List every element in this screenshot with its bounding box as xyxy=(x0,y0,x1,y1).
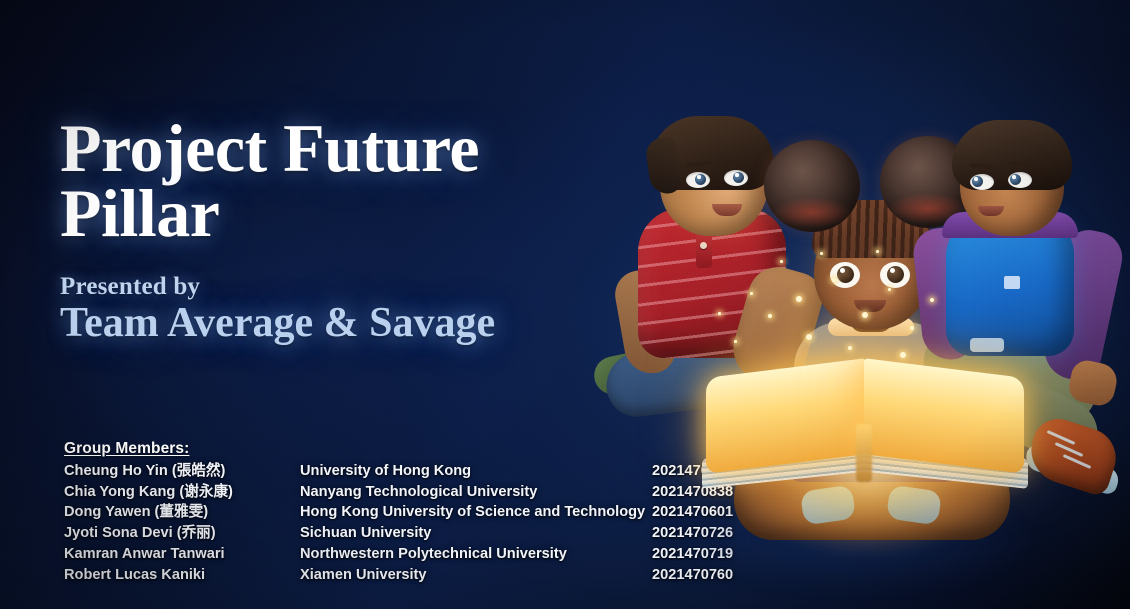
sparkle xyxy=(888,288,891,291)
title-text-block: Project Future Pillar Presented by Team … xyxy=(60,116,660,345)
sparkle xyxy=(796,296,802,302)
sparkle xyxy=(768,314,772,318)
sparkle xyxy=(848,346,852,350)
sparkle xyxy=(862,312,868,318)
presented-by-label: Presented by xyxy=(60,273,660,301)
children-reading-illustration xyxy=(600,100,1130,609)
book-page-right xyxy=(864,358,1024,474)
sparkle xyxy=(780,260,783,263)
page-title-line-2: Pillar xyxy=(60,181,660,246)
page-title-line-1: Project Future xyxy=(60,116,660,181)
shirt-button xyxy=(700,242,707,249)
book-spine xyxy=(856,424,872,482)
member-name: Cheung Ho Yin (張皓然) xyxy=(64,461,300,482)
afro-puff-left xyxy=(764,140,860,232)
pupil xyxy=(972,176,983,187)
pupil xyxy=(887,266,904,283)
sparkle xyxy=(718,312,721,315)
member-name: Dong Yawen (董雅雯) xyxy=(64,502,300,523)
sparkle xyxy=(930,298,934,302)
pupil xyxy=(1010,174,1021,185)
sparkle xyxy=(734,340,737,343)
sparkle xyxy=(820,252,823,255)
pupil xyxy=(695,174,706,185)
sparkle xyxy=(806,334,812,340)
sparkle xyxy=(910,326,914,330)
member-name: Chia Yong Kang (谢永康) xyxy=(64,482,300,503)
member-name: Kamran Anwar Tanwari xyxy=(64,544,300,565)
eyebrow xyxy=(1008,162,1034,167)
member-name: Jyoti Sona Devi (乔丽) xyxy=(64,523,300,544)
vest-badge-icon xyxy=(1004,276,1020,289)
title-slide: Project Future Pillar Presented by Team … xyxy=(0,0,1130,609)
member-name: Robert Lucas Kaniki xyxy=(64,565,300,586)
team-name: Team Average & Savage xyxy=(60,302,660,345)
glowing-open-book xyxy=(706,368,1024,486)
sparkle xyxy=(832,278,836,282)
waist-patch xyxy=(970,338,1004,352)
book-page-left xyxy=(706,358,866,474)
pupil xyxy=(837,266,854,283)
sparkle xyxy=(876,250,879,253)
sparkle xyxy=(900,352,906,358)
sparkle xyxy=(750,292,753,295)
